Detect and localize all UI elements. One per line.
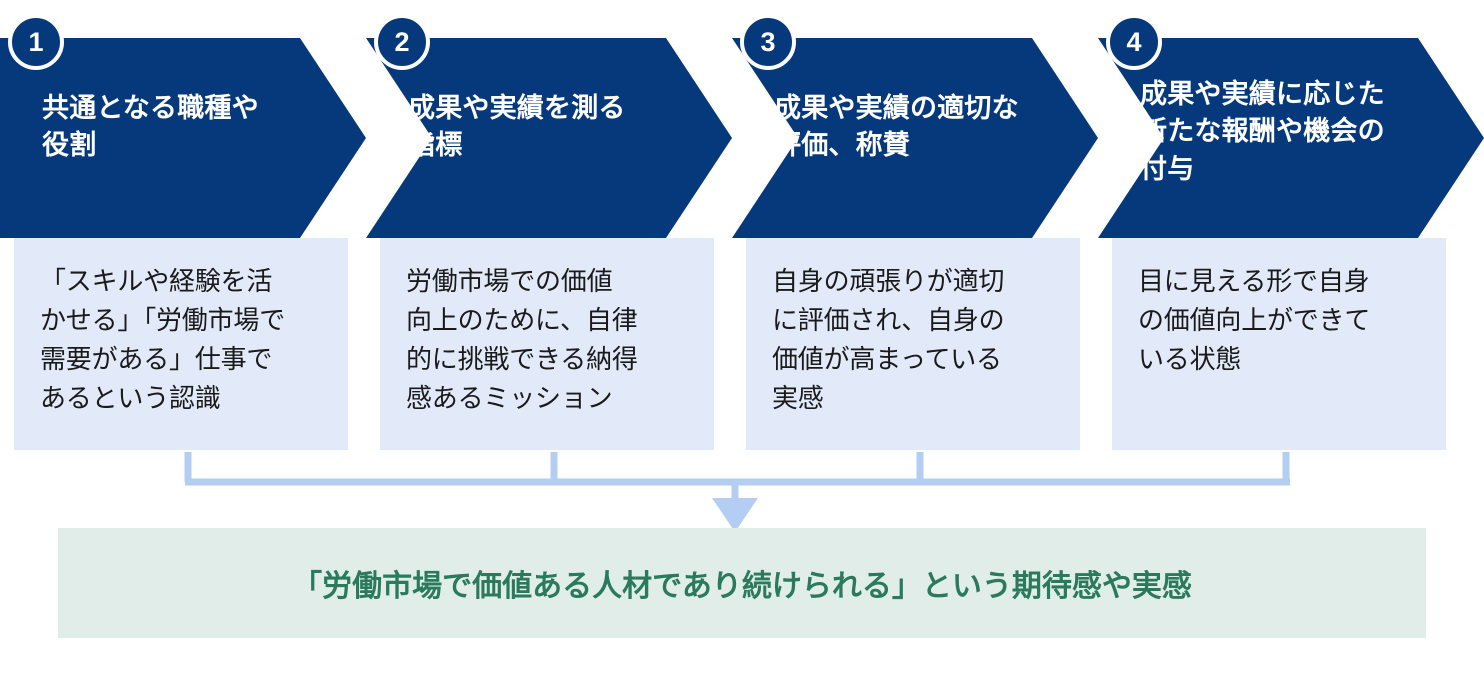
step-1-body-panel: 「スキルや経験を活 かせる」「労働市場で 需要がある」仕事で あるという認識 <box>14 238 348 450</box>
process-step-4: 成果や実績に応じた 新たな報酬や機会の 付与 4 目に見える形で自身 の価値向上… <box>1098 38 1464 450</box>
process-step-3: 成果や実績の適切な 評価、称賛 3 自身の頑張りが適切 に評価され、自身の 価値… <box>732 38 1098 450</box>
step-4-header-chevron: 成果や実績に応じた 新たな報酬や機会の 付与 <box>1098 38 1464 238</box>
step-1-title: 共通となる職種や 役割 <box>42 90 292 165</box>
step-3-header-chevron: 成果や実績の適切な 評価、称賛 <box>732 38 1098 238</box>
outcome-banner-text: 「労働市場で価値ある人材であり続けられる」という期待感や実感 <box>292 561 1192 605</box>
step-2-number-badge: 2 <box>374 14 430 70</box>
step-3-title: 成果や実績の適切な 評価、称賛 <box>774 90 1024 165</box>
process-step-2: 成果や実績を測る 指標 2 労働市場での価値 向上のために、自律 的に挑戦できる… <box>366 38 732 450</box>
connector-lines <box>0 440 1484 540</box>
step-3-body-panel: 自身の頑張りが適切 に評価され、自身の 価値が高まっている 実感 <box>746 238 1080 450</box>
step-4-number-badge: 4 <box>1106 14 1162 70</box>
diagram-canvas: 共通となる職種や 役割 1 「スキルや経験を活 かせる」「労働市場で 需要がある… <box>0 0 1484 680</box>
step-2-body-panel: 労働市場での価値 向上のために、自律 的に挑戦できる納得 感あるミッション <box>380 238 714 450</box>
step-2-header-chevron: 成果や実績を測る 指標 <box>366 38 732 238</box>
step-1-number-badge: 1 <box>8 14 64 70</box>
step-1-body-text: 「スキルや経験を活 かせる」「労働市場で 需要がある」仕事で あるという認識 <box>40 262 326 418</box>
step-2-body-text: 労働市場での価値 向上のために、自律 的に挑戦できる納得 感あるミッション <box>406 262 692 418</box>
step-4-body-text: 目に見える形で自身 の価値向上ができて いる状態 <box>1138 262 1424 379</box>
step-1-header-chevron: 共通となる職種や 役割 <box>0 38 366 238</box>
step-3-body-text: 自身の頑張りが適切 に評価され、自身の 価値が高まっている 実感 <box>772 262 1058 418</box>
outcome-banner: 「労働市場で価値ある人材であり続けられる」という期待感や実感 <box>58 528 1426 638</box>
step-4-body-panel: 目に見える形で自身 の価値向上ができて いる状態 <box>1112 238 1446 450</box>
step-2-title: 成果や実績を測る 指標 <box>408 90 658 165</box>
step-3-number-badge: 3 <box>740 14 796 70</box>
step-4-title: 成果や実績に応じた 新たな報酬や機会の 付与 <box>1140 76 1390 188</box>
process-step-1: 共通となる職種や 役割 1 「スキルや経験を活 かせる」「労働市場で 需要がある… <box>0 38 366 450</box>
